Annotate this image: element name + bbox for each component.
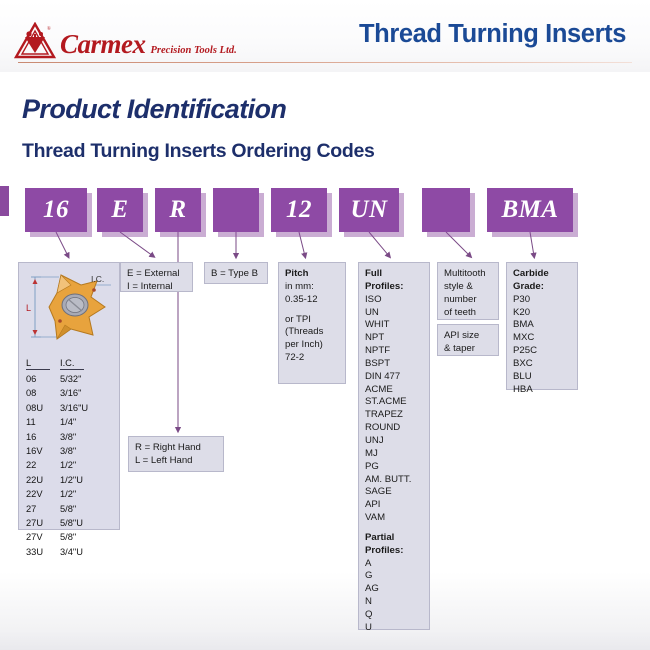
full-profiles-heading-1: Full	[365, 268, 423, 281]
carbide-heading-2: Grade:	[513, 281, 571, 294]
list-item: BSPT	[365, 358, 423, 371]
svg-text:L: L	[26, 303, 31, 313]
cell-ic: 3/16"	[60, 389, 112, 398]
pitch-line-5: per Inch)	[285, 339, 339, 352]
brand-logo: ® Carmex Precision Tools Ltd.	[14, 22, 236, 60]
cell-ic: 1/2"	[60, 490, 112, 499]
list-item: AM. BUTT.	[365, 474, 423, 487]
hand-direction-panel: R = Right Hand L = Left Hand	[128, 436, 224, 472]
cell-l: 16	[26, 433, 60, 442]
brand-name: Carmex	[60, 31, 146, 58]
list-item: ROUND	[365, 422, 423, 435]
list-item: BMA	[513, 319, 571, 332]
list-item: A	[365, 558, 423, 571]
cell-l: 27V	[26, 533, 60, 542]
code-box-hand[interactable]: R	[155, 188, 201, 232]
cell-ic: 5/8"U	[60, 519, 112, 528]
type-panel: B = Type B	[204, 262, 268, 284]
table-row: 163/8"	[26, 433, 116, 447]
pitch-line-3: or TPI	[285, 314, 339, 327]
cell-ic: 5/8"	[60, 505, 112, 514]
header-title: Thread Turning Inserts	[359, 20, 626, 49]
list-item: DIN 477	[365, 371, 423, 384]
cell-l: 33U	[26, 548, 60, 557]
cell-ic: 1/2"U	[60, 476, 112, 485]
table-row: 27V5/8"	[26, 533, 116, 547]
svg-text:®: ®	[47, 26, 51, 32]
table-row: 33U3/4"U	[26, 548, 116, 562]
list-item: P25C	[513, 345, 571, 358]
api-size-panel: API size & taper	[437, 324, 499, 356]
list-item: ACME	[365, 384, 423, 397]
table-row: 08U3/16"U	[26, 404, 116, 418]
partial-profiles-heading-1: Partial	[365, 532, 423, 545]
header-divider	[18, 62, 632, 63]
page-subtitle: Thread Turning Inserts Ordering Codes	[22, 140, 375, 163]
table-row: 065/32"	[26, 375, 116, 389]
mt-line-2: style &	[444, 281, 492, 294]
brand-tagline: Precision Tools Ltd.	[151, 45, 237, 56]
size-table: L I.C. 065/32" 083/16" 08U3/16"U 111/4" …	[26, 359, 116, 562]
list-item: API	[365, 499, 423, 512]
cell-l: 27U	[26, 519, 60, 528]
list-item: VAM	[365, 512, 423, 525]
cell-ic: 5/32"	[60, 375, 112, 384]
cell-ic: 3/8"	[60, 447, 112, 456]
cell-ic: 5/8"	[60, 533, 112, 542]
ei-line-2: I = Internal	[127, 281, 186, 294]
pitch-heading: Pitch	[285, 268, 339, 281]
cell-l: 16V	[26, 447, 60, 456]
insert-dimension-panel: L I.C. L I.C. 065/32" 083/16" 08U3/16"U …	[18, 262, 120, 530]
code-box-profile[interactable]: UN	[339, 188, 399, 232]
cell-l: 08	[26, 389, 60, 398]
ei-line-1: E = External	[127, 268, 186, 281]
cell-l: 11	[26, 418, 60, 427]
pitch-line-6: 72-2	[285, 352, 339, 365]
code-box-pitch[interactable]: 12	[271, 188, 327, 232]
list-item: MJ	[365, 448, 423, 461]
cell-l: 08U	[26, 404, 60, 413]
code-box-ext-int[interactable]: E	[97, 188, 143, 232]
table-row: 111/4"	[26, 418, 116, 432]
table-row: 16V3/8"	[26, 447, 116, 461]
list-item: U	[365, 622, 423, 635]
spacer	[365, 525, 423, 532]
list-item: NPTF	[365, 345, 423, 358]
spacer	[285, 307, 339, 314]
triangle-logo-icon: ®	[14, 22, 56, 60]
list-item: PG	[365, 461, 423, 474]
insert-illustration: L I.C.	[19, 263, 119, 355]
pitch-line-1: in mm:	[285, 281, 339, 294]
mt-line-4: of teeth	[444, 307, 492, 320]
table-row: 275/8"	[26, 505, 116, 519]
list-item: HBA	[513, 384, 571, 397]
type-line-1: B = Type B	[211, 268, 261, 281]
list-item: TRAPEZ	[365, 409, 423, 422]
list-item: P30	[513, 294, 571, 307]
api-line-1: API size	[444, 330, 492, 343]
full-profiles-heading-2: Profiles:	[365, 281, 423, 294]
cell-ic: 3/8"	[60, 433, 112, 442]
page-title: Product Identification	[22, 94, 286, 125]
list-item: BXC	[513, 358, 571, 371]
cell-ic: 1/2"	[60, 461, 112, 470]
api-line-2: & taper	[444, 343, 492, 356]
page-header: ® Carmex Precision Tools Ltd. Thread Tur…	[0, 0, 650, 72]
list-item: AG	[365, 583, 423, 596]
carbide-grade-panel: Carbide Grade: P30 K20 BMA MXC P25C BXC …	[506, 262, 578, 390]
col-header-l: L	[26, 359, 50, 370]
cell-l: 22	[26, 461, 60, 470]
list-item: Q	[365, 609, 423, 622]
table-row: 083/16"	[26, 389, 116, 403]
table-row: 22U1/2"U	[26, 476, 116, 490]
pitch-line-2: 0.35-12	[285, 294, 339, 307]
external-internal-panel: E = External I = Internal	[120, 262, 193, 292]
pitch-panel: Pitch in mm: 0.35-12 or TPI (Threads per…	[278, 262, 346, 384]
rl-line-2: L = Left Hand	[135, 455, 217, 468]
cell-l: 06	[26, 375, 60, 384]
code-box-multitooth[interactable]	[422, 188, 470, 232]
table-header-row: L I.C.	[26, 359, 116, 375]
list-item: SAGE	[365, 486, 423, 499]
page-root: ® Carmex Precision Tools Ltd. Thread Tur…	[0, 0, 650, 650]
accent-tab	[0, 186, 9, 216]
list-item: MXC	[513, 332, 571, 345]
list-item: BLU	[513, 371, 571, 384]
code-box-type[interactable]	[213, 188, 259, 232]
partial-profiles-heading-2: Profiles:	[365, 545, 423, 558]
svg-text:I.C.: I.C.	[91, 274, 104, 284]
carbide-heading-1: Carbide	[513, 268, 571, 281]
list-item: NPT	[365, 332, 423, 345]
list-item: ISO	[365, 294, 423, 307]
pitch-line-4: (Threads	[285, 326, 339, 339]
col-header-ic: I.C.	[60, 359, 84, 370]
code-box-grade[interactable]: BMA	[487, 188, 573, 232]
table-row: 22V1/2"	[26, 490, 116, 504]
table-row: 27U5/8"U	[26, 519, 116, 533]
list-item: UNJ	[365, 435, 423, 448]
list-item: G	[365, 570, 423, 583]
table-row: 221/2"	[26, 461, 116, 475]
list-item: WHIT	[365, 319, 423, 332]
mt-line-3: number	[444, 294, 492, 307]
list-item: K20	[513, 307, 571, 320]
cell-l: 22V	[26, 490, 60, 499]
list-item: UN	[365, 307, 423, 320]
profiles-panel: Full Profiles: ISO UN WHIT NPT NPTF BSPT…	[358, 262, 430, 630]
cell-ic: 3/16"U	[60, 404, 112, 413]
list-item: N	[365, 596, 423, 609]
multitooth-panel: Multitooth style & number of teeth	[437, 262, 499, 320]
cell-l: 22U	[26, 476, 60, 485]
mt-line-1: Multitooth	[444, 268, 492, 281]
cell-ic: 3/4"U	[60, 548, 112, 557]
cell-l: 27	[26, 505, 60, 514]
code-box-size[interactable]: 16	[25, 188, 87, 232]
cell-ic: 1/4"	[60, 418, 112, 427]
list-item: ST.ACME	[365, 396, 423, 409]
rl-line-1: R = Right Hand	[135, 442, 217, 455]
